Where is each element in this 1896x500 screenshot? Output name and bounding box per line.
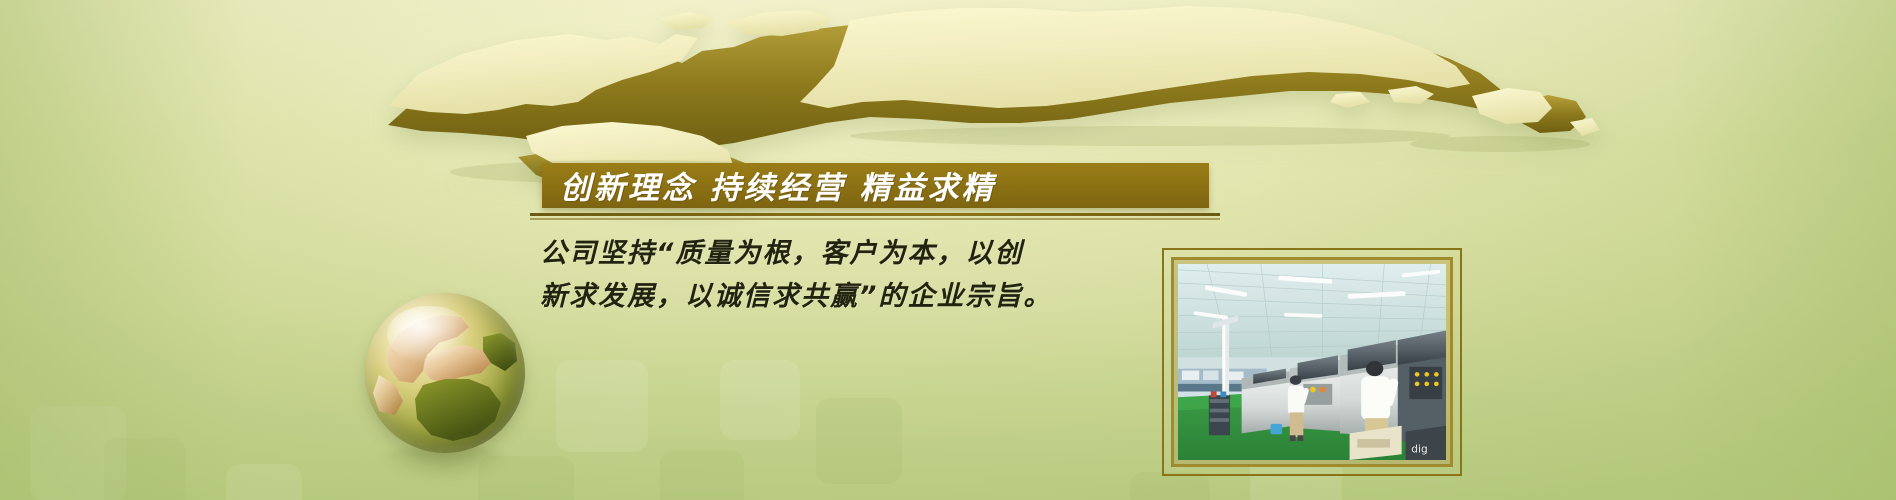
photo-frame-inner-border: dig Factory workshop interior with CNC m…	[1171, 257, 1453, 467]
headline-divider-thin	[530, 218, 1220, 220]
factory-workshop-illustration: dig	[1178, 264, 1446, 460]
company-banner: 创新理念 持续经营 精益求精 公司坚持“质量为根，客户为本，以创 新求发展，以诚…	[0, 0, 1896, 500]
headline-text: 创新理念 持续经营 精益求精	[560, 162, 996, 207]
globe-reflection	[375, 445, 515, 483]
globe-gloss-highlight	[387, 306, 470, 364]
photo-frame: dig Factory workshop interior with CNC m…	[1162, 248, 1462, 476]
3d-glossy-globe-icon	[365, 293, 525, 453]
factory-workshop-photo: dig Factory workshop interior with CNC m…	[1178, 264, 1446, 460]
subtitle-block: 公司坚持“质量为根，客户为本，以创 新求发展，以诚信求共赢”的企业宗旨。	[540, 232, 1170, 318]
headline-bar: 创新理念 持续经营 精益求精	[542, 163, 1209, 208]
globe-graphic	[365, 293, 533, 483]
subtitle-line-1: 公司坚持“质量为根，客户为本，以创	[540, 232, 1170, 275]
headline-divider-thick	[530, 213, 1220, 216]
subtitle-line-2: 新求发展，以诚信求共赢”的企业宗旨。	[540, 275, 1170, 318]
